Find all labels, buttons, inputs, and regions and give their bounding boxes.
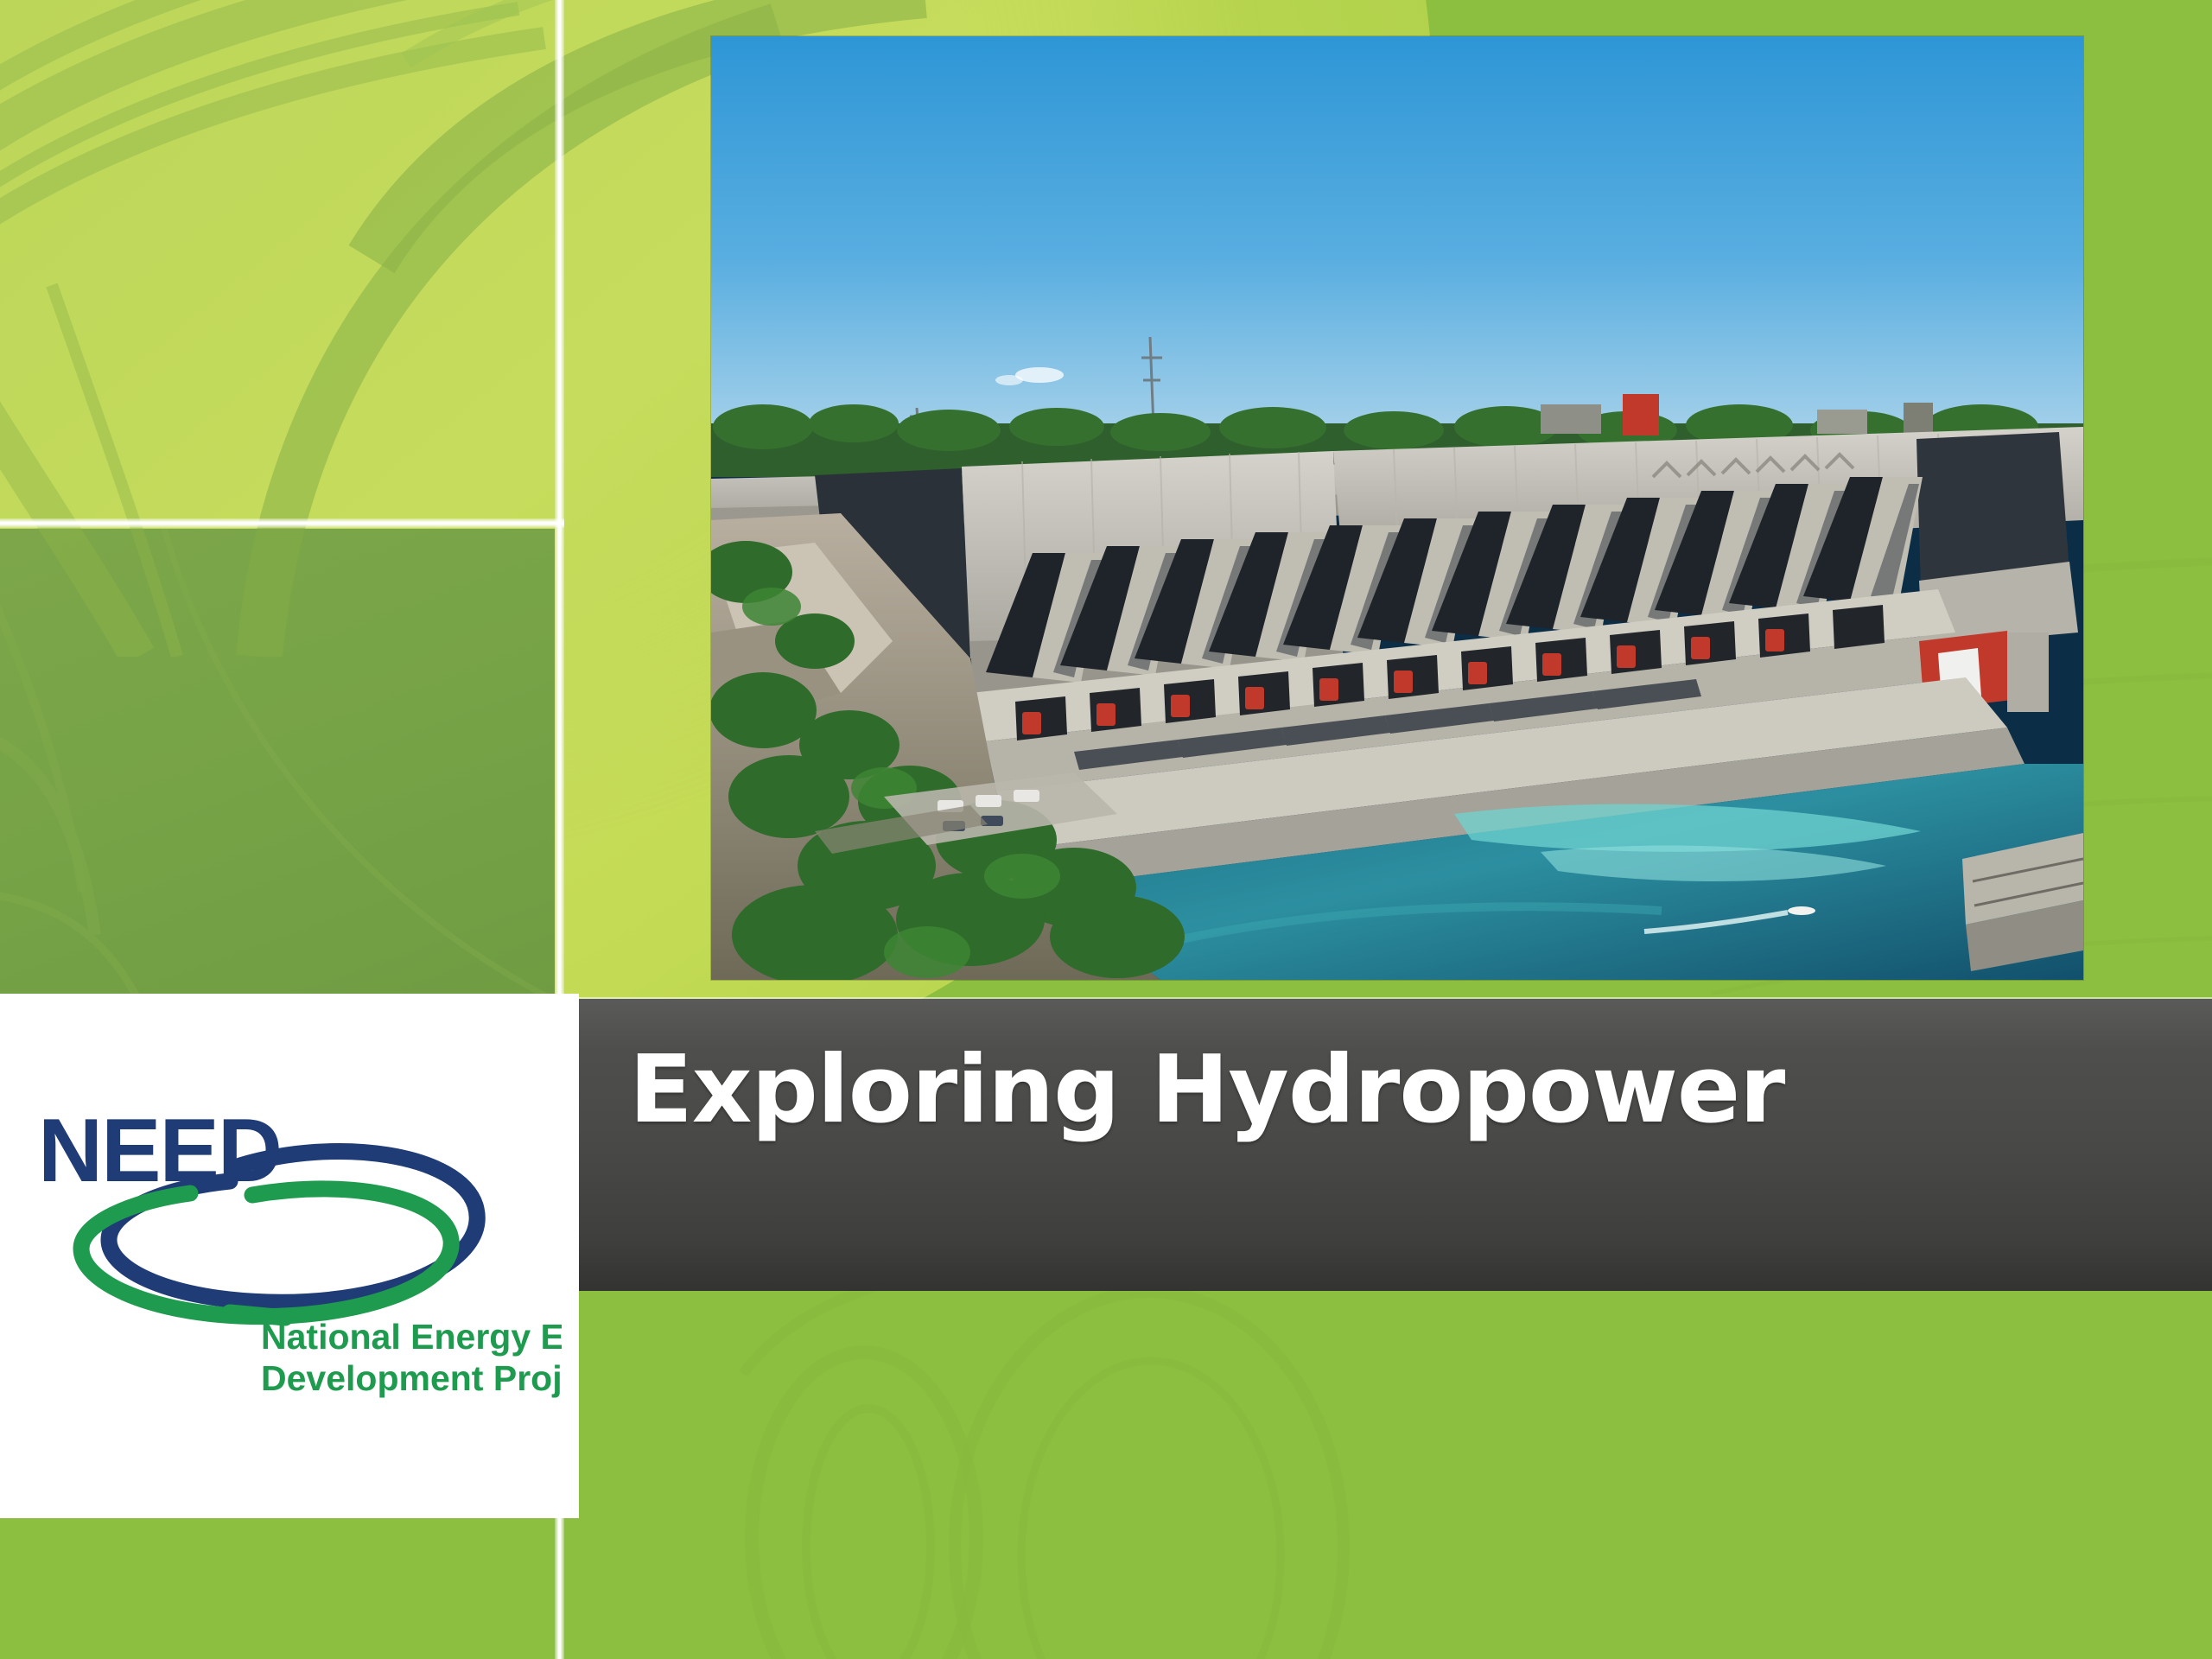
logo-card: NEED National Energy Education Developme… — [0, 994, 579, 1518]
page-title: Exploring Hydropower — [577, 999, 1784, 1137]
need-logo: NEED National Energy Education Developme… — [26, 1102, 562, 1413]
title-banner: Exploring Hydropower — [577, 999, 2212, 1291]
slide-canvas: Exploring Hydropower NEED National Energ… — [0, 0, 2212, 1659]
logo-line1-text: National Energy Education — [261, 1317, 562, 1357]
decorative-arcs-olive — [0, 529, 555, 1000]
white-horizontal-rule — [0, 518, 564, 528]
logo-acronym-text: NEED — [38, 1102, 281, 1201]
hydropower-dam-photo — [711, 36, 2083, 980]
logo-line2-text: Development Project — [261, 1358, 562, 1398]
